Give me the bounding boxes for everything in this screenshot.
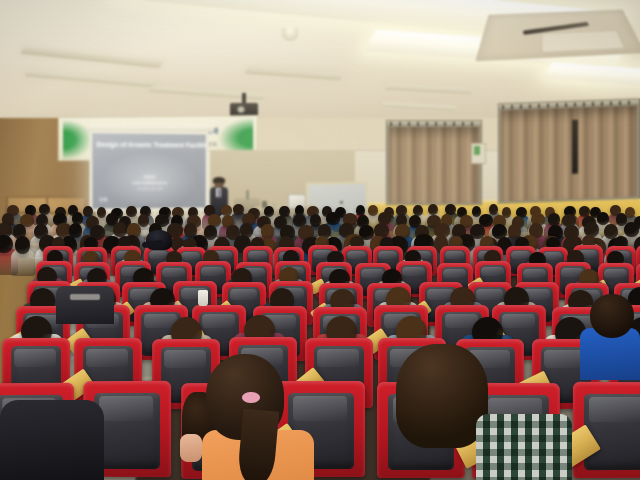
audience-head	[15, 236, 30, 254]
audience-person-dark-left-fg	[0, 400, 110, 480]
audience-head	[428, 204, 438, 215]
audience-person-white-cup	[198, 290, 208, 306]
audience-head	[261, 224, 275, 239]
audience-head	[548, 213, 561, 226]
audience-head	[126, 206, 136, 217]
audience-person-cap	[146, 230, 172, 250]
audience-person-blue-top	[580, 300, 640, 380]
audience-head	[0, 235, 13, 253]
audience-head	[624, 222, 639, 237]
audience-head	[264, 206, 274, 217]
audience-head	[113, 222, 127, 237]
audience-head	[326, 212, 340, 225]
audience-person-long-hair-center-right	[396, 344, 488, 454]
audience-person-striped-tshirt	[56, 272, 116, 324]
audience-head	[413, 205, 423, 216]
audience-head	[233, 204, 244, 215]
audience-person-checkered-shirt	[476, 392, 572, 480]
lecture-hall-photo: 환경공학과 특별초청강연회 Design of Arsenic Treatmen…	[0, 0, 640, 480]
audience-person-ponytail	[196, 352, 316, 480]
audience-head	[368, 205, 378, 216]
